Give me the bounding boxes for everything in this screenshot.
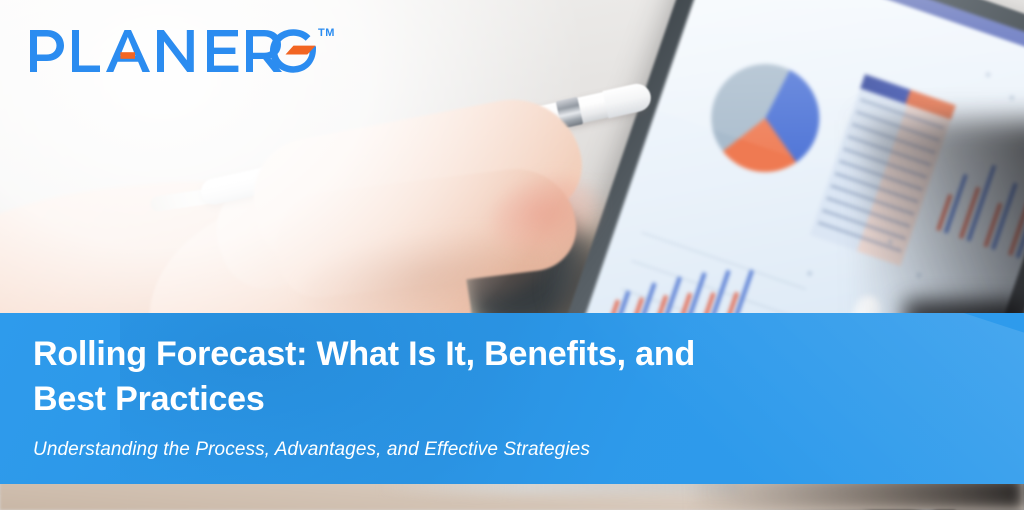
- page-subtitle: Understanding the Process, Advantages, a…: [33, 439, 1004, 462]
- page-title: Rolling Forecast: What Is It, Benefits, …: [33, 332, 723, 421]
- planergy-logo[interactable]: TM: [30, 26, 335, 76]
- trademark-symbol: TM: [318, 28, 335, 39]
- title-banner: Rolling Forecast: What Is It, Benefits, …: [0, 313, 1024, 484]
- planergy-wordmark: [30, 26, 316, 76]
- stylus-cap: [603, 81, 654, 118]
- hero-banner-image: TM Rolling Forecast: What Is It, Benefit…: [0, 0, 1024, 510]
